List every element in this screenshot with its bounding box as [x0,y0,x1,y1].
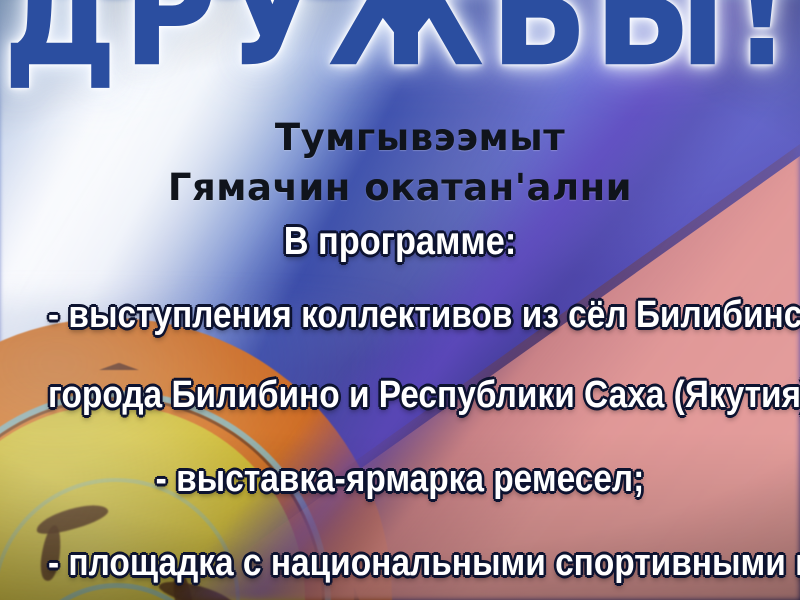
program-item: - площадка с национальными спортивными и… [48,538,752,588]
program-item: - выступления коллективов из сёл Билибин… [48,290,752,340]
subtitle-line-2: Гямачин окатан'ални [0,163,800,213]
poster-subtitle: Тумгывээмыт Гямачин окатан'ални [0,113,800,213]
poster-title: ДРУЖБЫ! [0,0,800,89]
program-item: - выставка-ярмарка ремесел; [48,454,752,504]
poster-canvas: ДРУЖБЫ! Тумгывээмыт Гямачин окатан'ални … [0,0,800,600]
subtitle-line-1: Тумгывээмыт [0,113,800,163]
program-block: В программе: - выступления коллективов и… [0,216,800,588]
program-heading: В программе: [48,216,752,268]
poster-content: ДРУЖБЫ! Тумгывээмыт Гямачин окатан'ални … [0,0,800,600]
program-item: города Билибино и Республики Саха (Якути… [48,370,752,420]
